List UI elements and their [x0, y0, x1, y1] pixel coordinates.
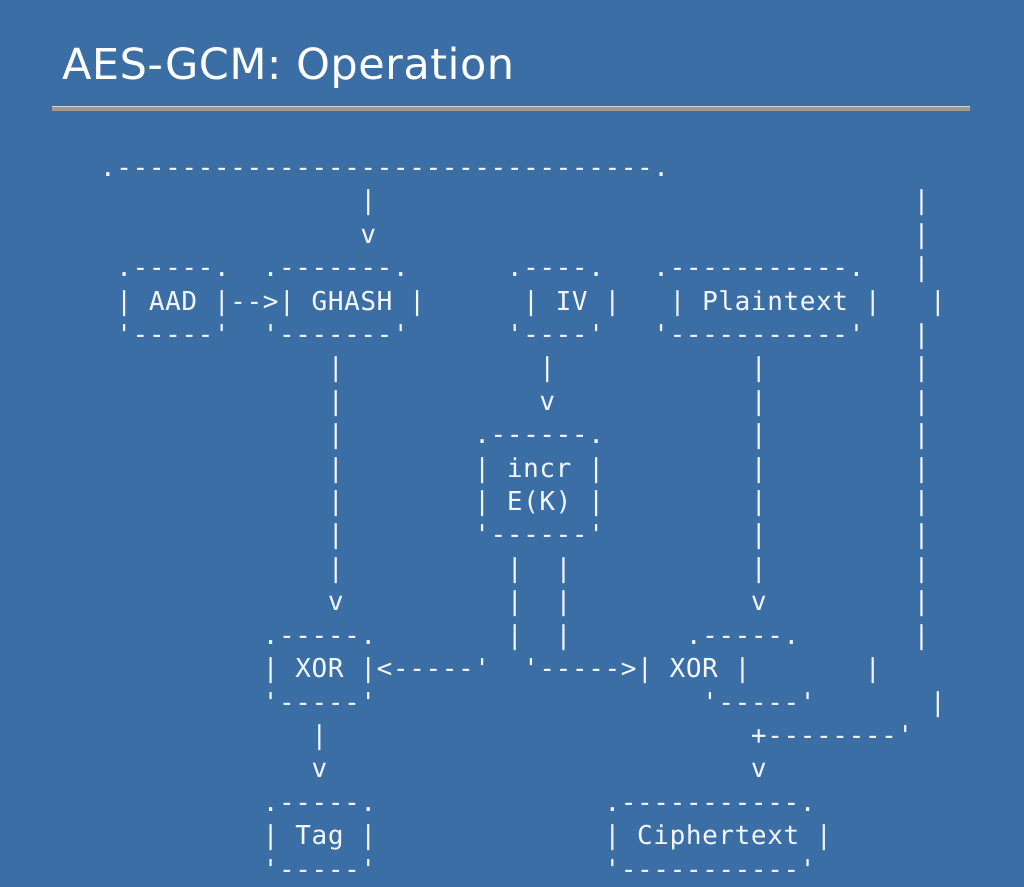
page-title: AES-GCM: Operation	[62, 44, 515, 87]
title-underline-rule	[52, 106, 970, 111]
slide-canvas: AES-GCM: Operation .--------------------…	[0, 0, 1024, 768]
aes-gcm-operation-ascii-diagram: .---------------------------------. | | …	[100, 152, 946, 887]
